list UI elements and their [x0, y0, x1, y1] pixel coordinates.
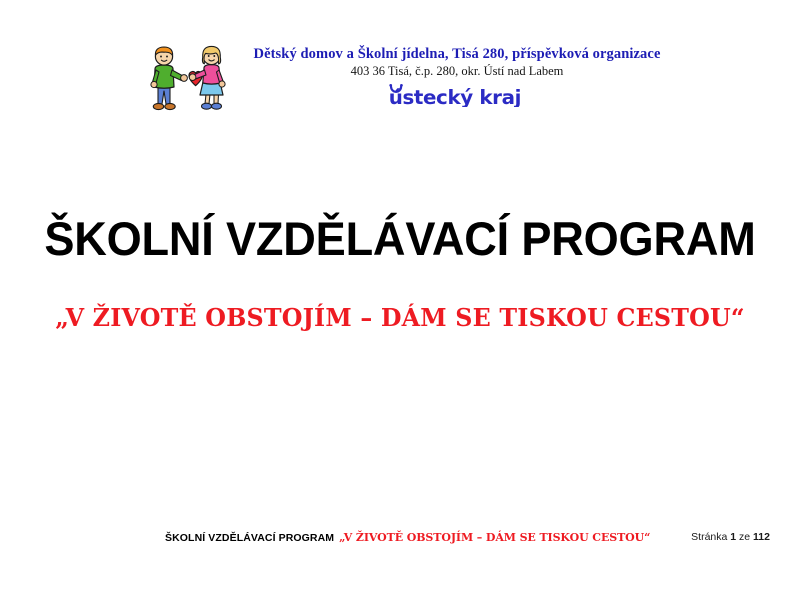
- document-page: Dětský domov a Školní jídelna, Tisá 280,…: [0, 0, 800, 600]
- footer-program-label: ŠKOLNÍ VZDĚLÁVACÍ PROGRAM: [165, 532, 334, 544]
- page-of-label: ze: [739, 531, 750, 543]
- children-with-heart-icon: [140, 42, 232, 118]
- organization-address: 403 36 Tisá, č.p. 280, okr. Ústí nad Lab…: [351, 64, 564, 80]
- svg-text:ústecký kraj: ústecký kraj: [389, 86, 521, 107]
- footer-program-quote: „V ŽIVOTĚ OBSTOJÍM – DÁM SE TISKOU CESTO…: [339, 531, 650, 544]
- organization-name: Dětský domov a Školní jídelna, Tisá 280,…: [254, 46, 661, 63]
- page-total-number: 112: [753, 531, 770, 543]
- letterhead: Dětský domov a Školní jídelna, Tisá 280,…: [0, 40, 800, 128]
- letterhead-inner: Dětský domov a Školní jídelna, Tisá 280,…: [140, 40, 661, 118]
- page-current-number: 1: [730, 531, 736, 543]
- page-footer: ŠKOLNÍ VZDĚLÁVACÍ PROGRAM „V ŽIVOTĚ OBST…: [0, 531, 800, 549]
- page-number-indicator: Stránka 1 ze 112: [691, 531, 770, 543]
- page-prefix-label: Stránka: [691, 531, 727, 543]
- footer-program-line: ŠKOLNÍ VZDĚLÁVACÍ PROGRAM „V ŽIVOTĚ OBST…: [165, 531, 650, 544]
- page-title: ŠKOLNÍ VZDĚLÁVACÍ PROGRAM: [16, 214, 784, 263]
- ustecky-kraj-logo: ústecký kraj: [382, 83, 532, 107]
- organization-block: Dětský domov a Školní jídelna, Tisá 280,…: [254, 40, 661, 107]
- page-subtitle: „V ŽIVOTĚ OBSTOJÍM – DÁM SE TISKOU CESTO…: [4, 305, 796, 331]
